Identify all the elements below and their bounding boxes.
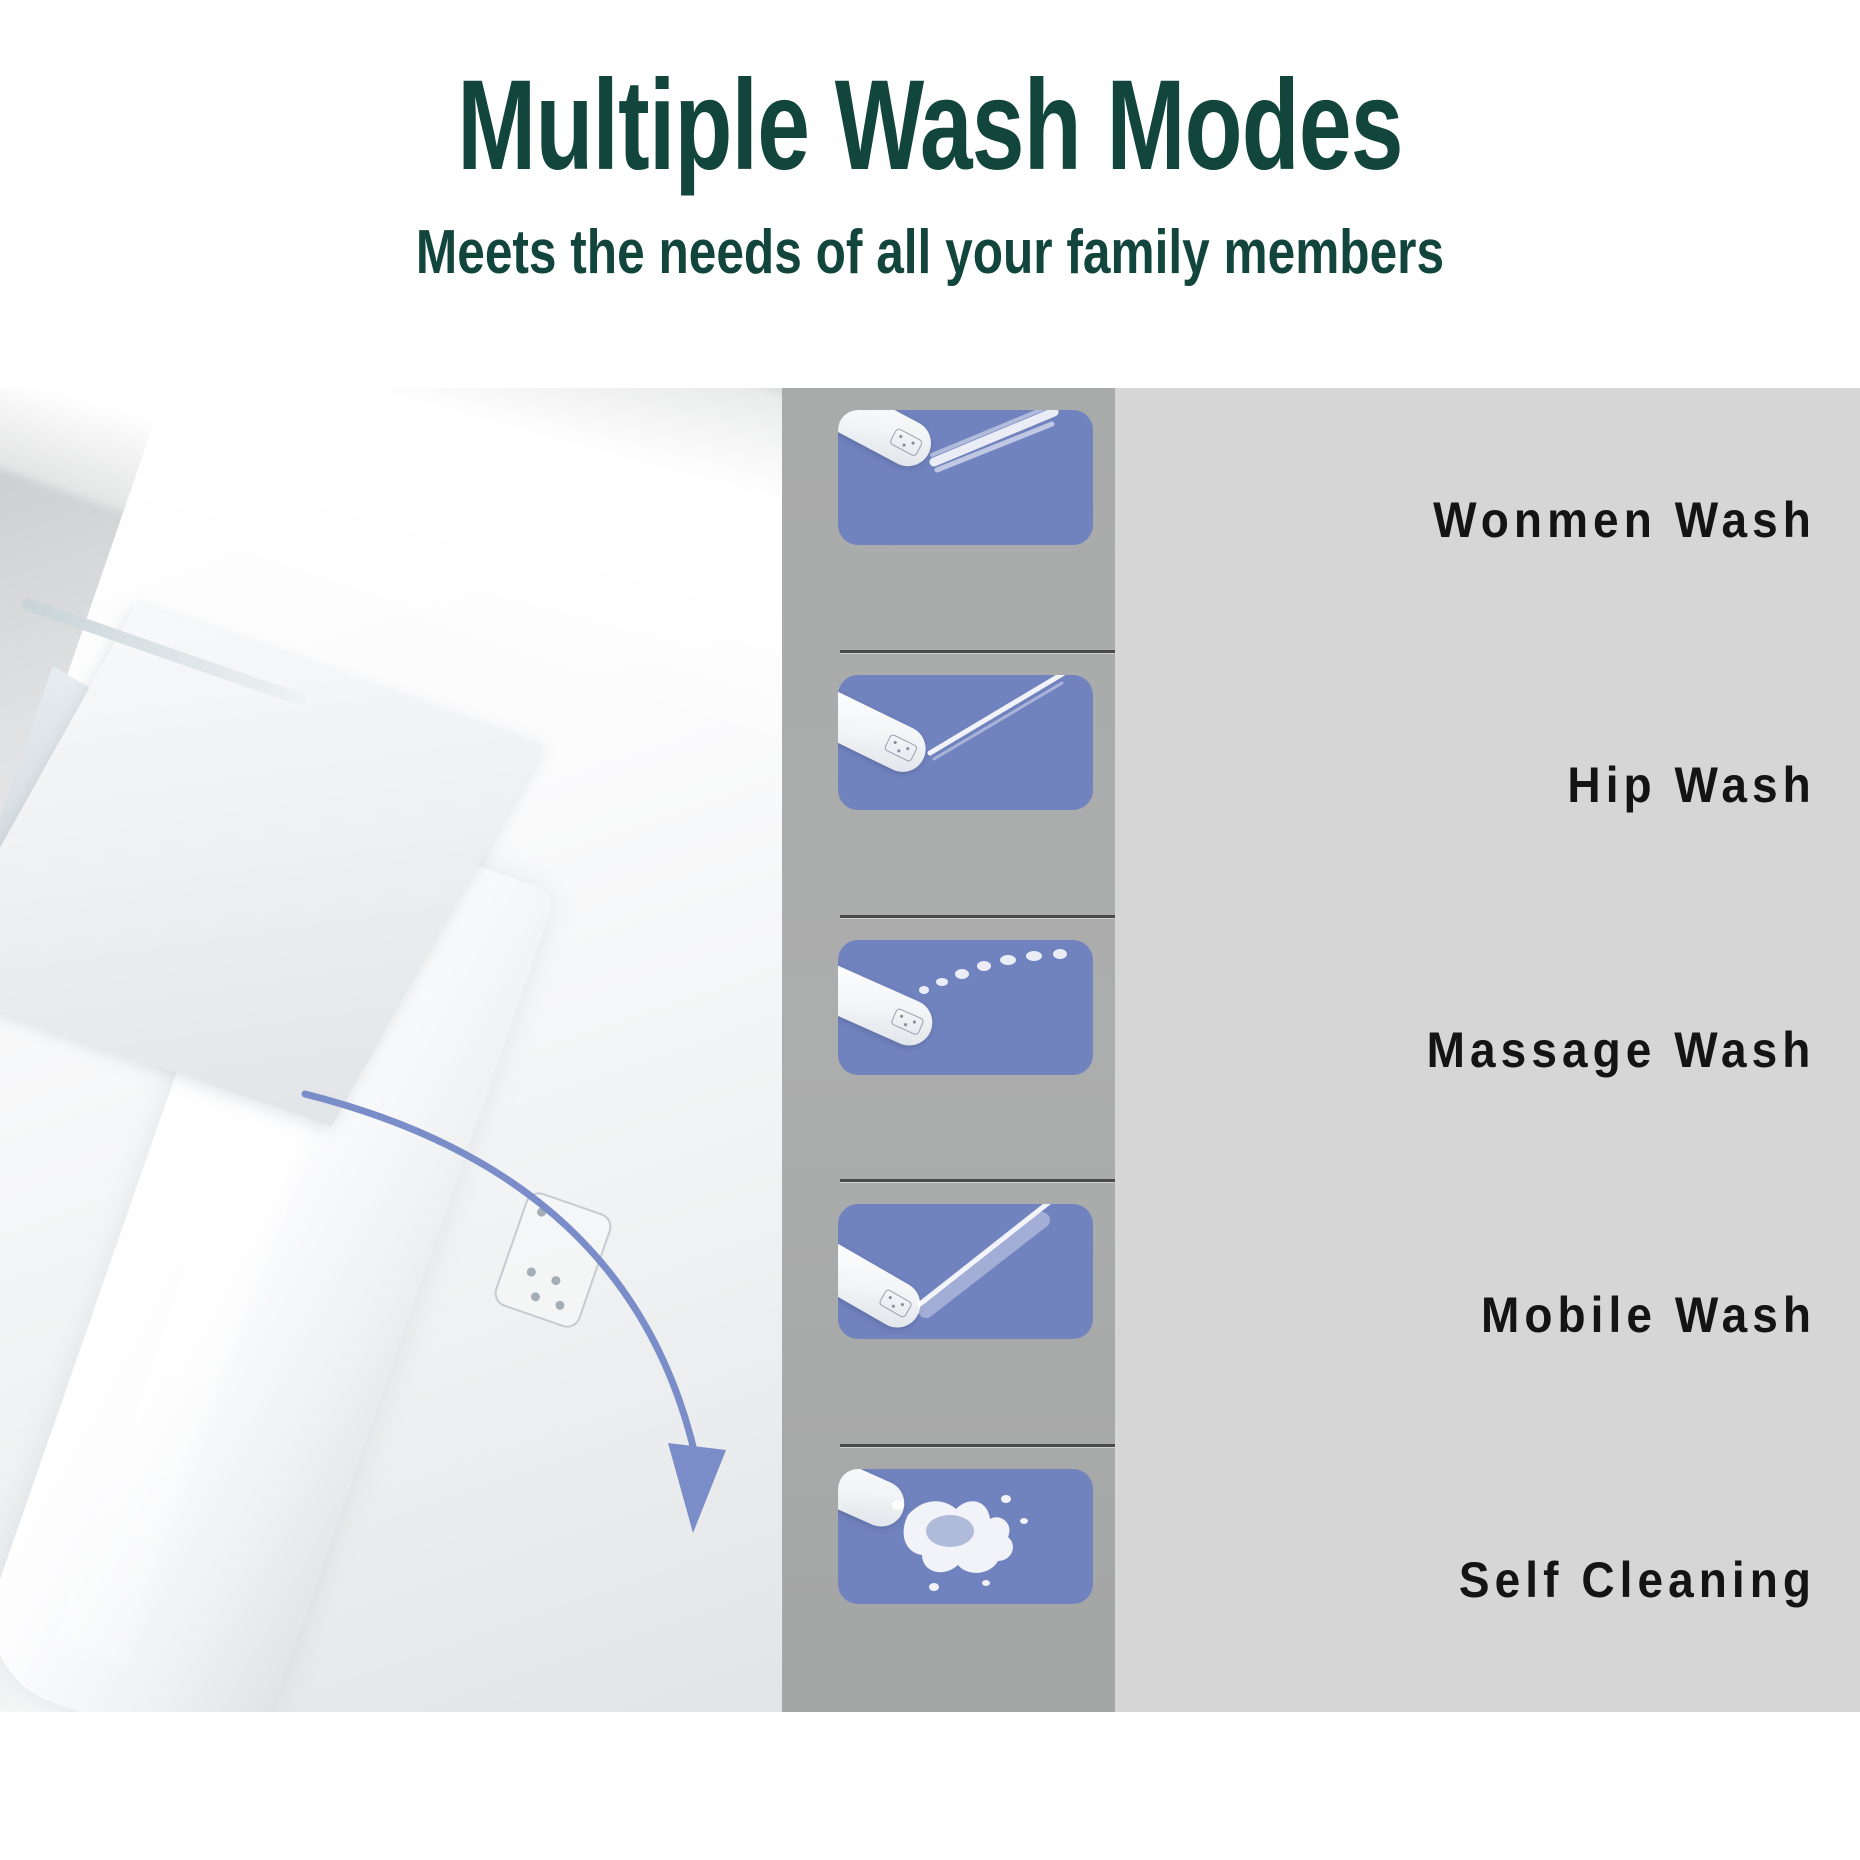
mode-label-women-wash: Wonmen Wash	[1433, 491, 1860, 549]
self-cleaning-thumbnail[interactable]	[838, 1469, 1093, 1604]
mode-label-massage-wash: Massage Wash	[1427, 1021, 1860, 1079]
control-dot	[550, 1275, 561, 1286]
footer-spacer	[0, 1712, 1860, 1860]
product-feature-page: Multiple Wash Modes Meets the needs of a…	[0, 0, 1860, 1860]
narrow-jet-spray-icon	[838, 675, 1093, 810]
mode-label-row[interactable]: Mobile Wash	[1115, 1182, 1860, 1447]
thumbnail-row[interactable]	[782, 388, 1115, 653]
thumbnail-row[interactable]	[782, 653, 1115, 918]
thumbnail-row[interactable]	[782, 1182, 1115, 1447]
control-dot	[530, 1291, 541, 1302]
pulsing-droplet-spray-icon	[838, 940, 1093, 1075]
splash-burst-icon	[838, 1469, 1093, 1604]
control-dot	[554, 1300, 565, 1311]
mobile-wash-thumbnail[interactable]	[838, 1204, 1093, 1339]
hero-product-photo	[0, 388, 782, 1712]
hip-wash-thumbnail[interactable]	[838, 675, 1093, 810]
massage-wash-thumbnail[interactable]	[838, 940, 1093, 1075]
mode-label-row[interactable]: Massage Wash	[1115, 918, 1860, 1183]
control-dot	[536, 1206, 547, 1217]
thumbnail-row[interactable]	[782, 1447, 1115, 1712]
thumbnail-row[interactable]	[782, 918, 1115, 1183]
women-wash-thumbnail[interactable]	[838, 410, 1093, 545]
mode-label-mobile-wash: Mobile Wash	[1481, 1286, 1860, 1344]
mode-thumbnail-column	[782, 388, 1115, 1712]
feature-image-panel: Wonmen Wash Hip Wash Massage Wash Mobile…	[0, 388, 1860, 1712]
header: Multiple Wash Modes Meets the needs of a…	[0, 0, 1860, 388]
mode-label-hip-wash: Hip Wash	[1567, 756, 1860, 814]
wide-fan-spray-icon	[838, 410, 1093, 545]
mode-label-row[interactable]: Wonmen Wash	[1115, 388, 1860, 653]
page-subtitle: Meets the needs of all your family membe…	[186, 222, 1674, 284]
page-title: Multiple Wash Modes	[242, 62, 1618, 190]
moving-jet-spray-icon	[838, 1204, 1093, 1339]
mode-label-column: Wonmen Wash Hip Wash Massage Wash Mobile…	[1115, 388, 1860, 1712]
control-dot	[526, 1266, 537, 1277]
mode-label-row[interactable]: Self Cleaning	[1115, 1447, 1860, 1712]
mode-label-row[interactable]: Hip Wash	[1115, 653, 1860, 918]
mode-label-self-cleaning: Self Cleaning	[1459, 1551, 1860, 1609]
